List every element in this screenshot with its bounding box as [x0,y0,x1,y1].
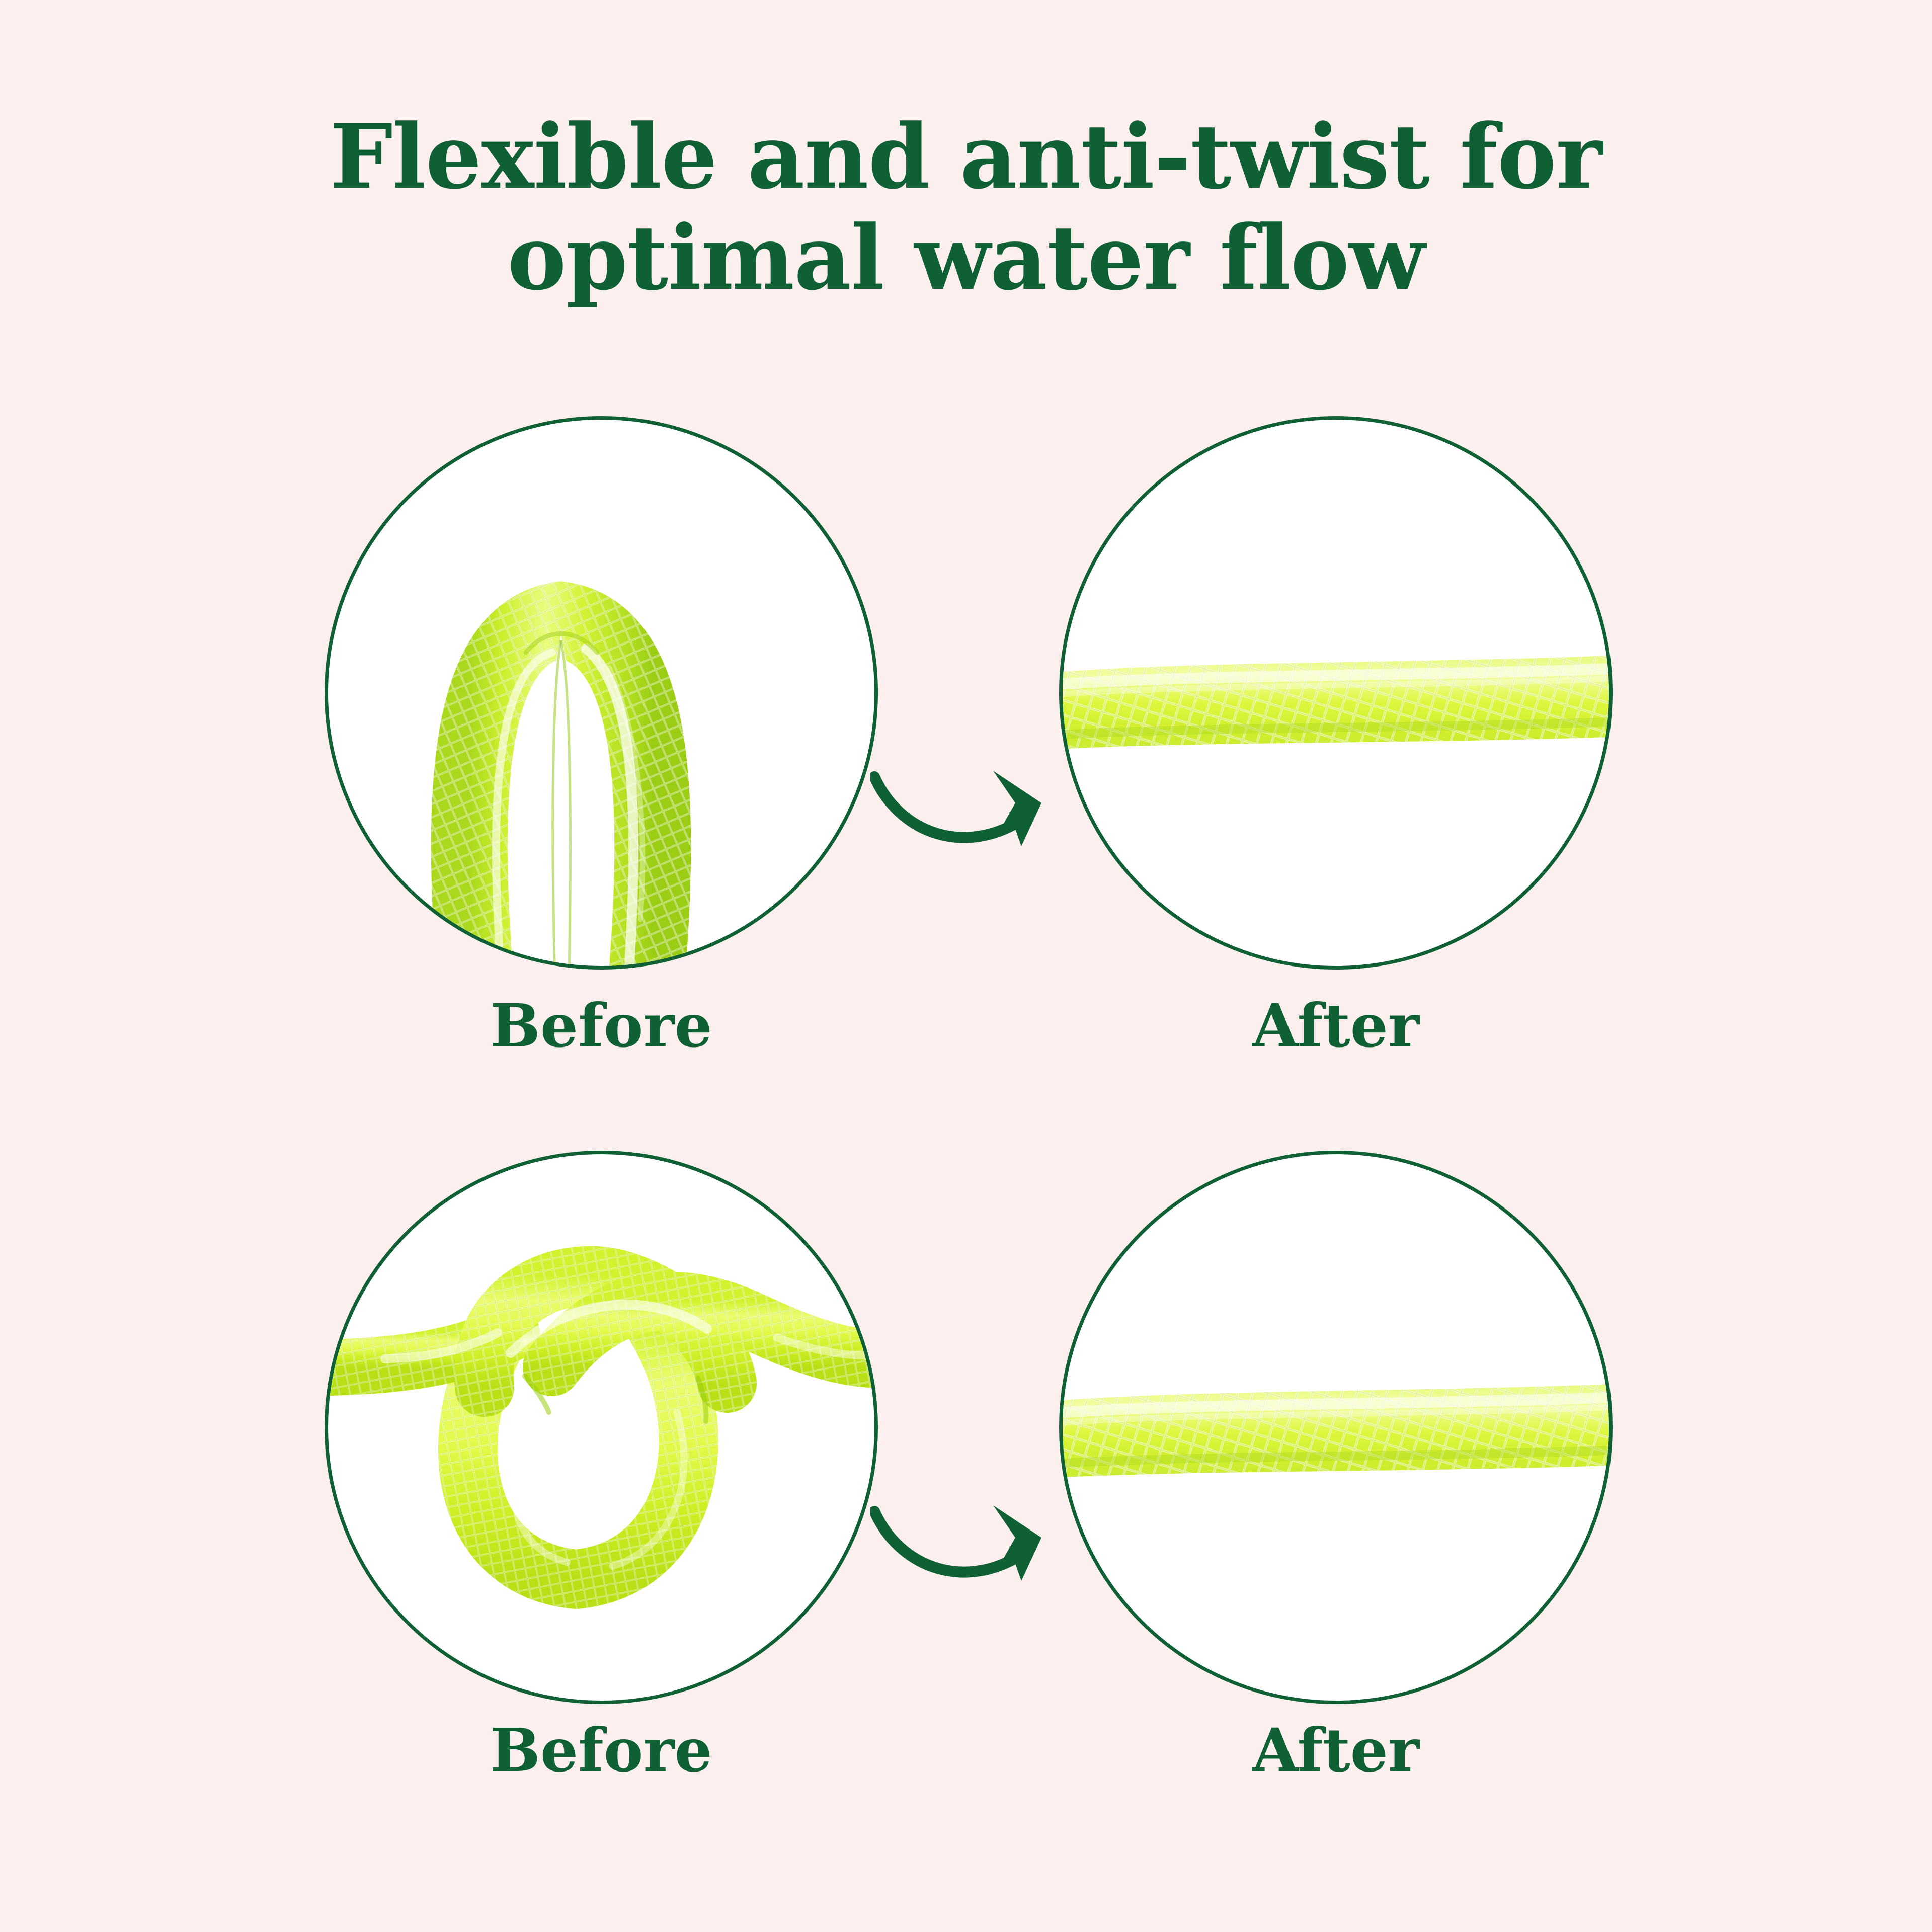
hose-kinked-u-loop-icon [325,416,878,970]
curved-arrow-right-icon [870,760,1082,891]
before-kink-circle [325,416,878,970]
transition-arrow-bottom [870,1494,1082,1625]
page-title-line-2: optimal water flow [0,208,1932,309]
after-knot-label: After [1059,1721,1613,1780]
before-knot-label: Before [325,1721,878,1780]
page-title: Flexible and anti-twist for optimal wate… [0,107,1932,308]
hose-overhand-knot-icon [325,1151,878,1704]
page-title-line-1: Flexible and anti-twist for [0,107,1932,208]
after-kink-circle [1059,416,1613,970]
transition-arrow-top [870,760,1082,891]
before-knot-circle [325,1151,878,1704]
after-knot-circle [1059,1151,1613,1704]
hose-straight-horizontal-icon [1059,416,1613,970]
before-kink-label: Before [325,996,878,1056]
after-kink-label: After [1059,996,1613,1056]
curved-arrow-right-icon [870,1494,1082,1625]
infographic-canvas: Flexible and anti-twist for optimal wate… [0,0,1932,1932]
hose-straight-horizontal-icon [1059,1151,1613,1704]
